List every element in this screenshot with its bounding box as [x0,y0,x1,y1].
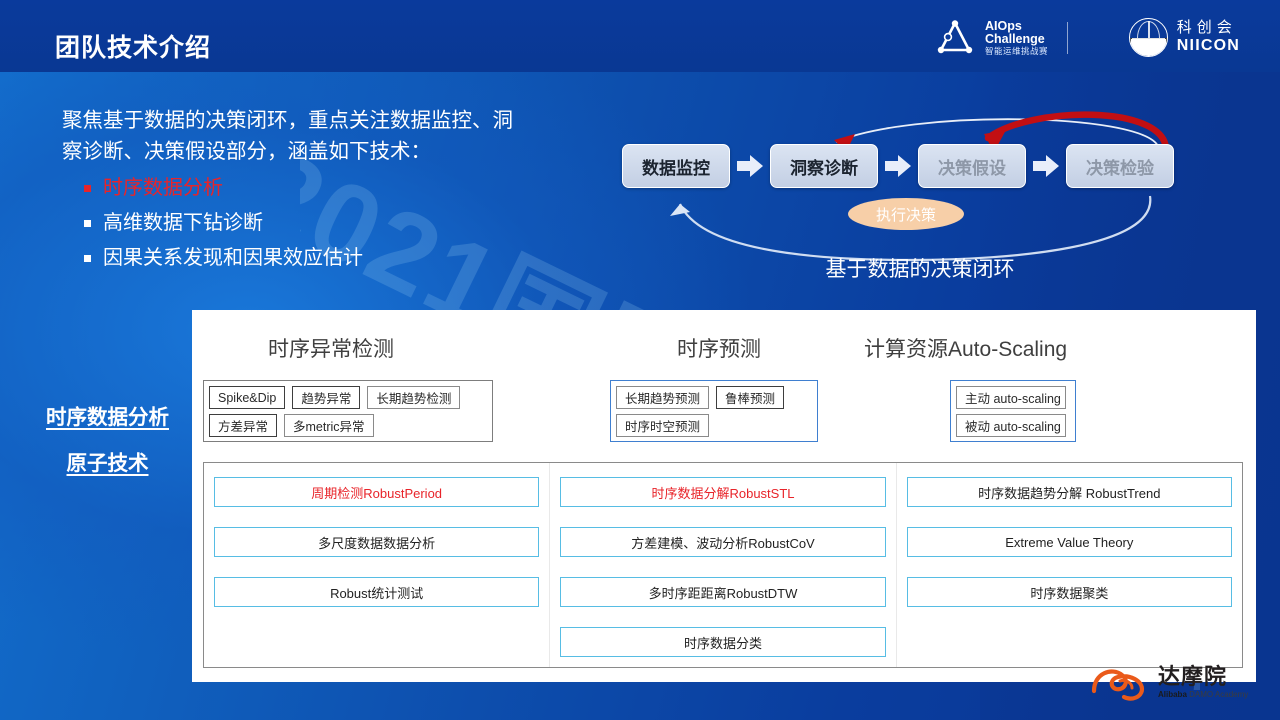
tag-item[interactable]: 方差异常 [209,414,277,437]
right-arrow-icon [1033,154,1059,178]
atomic-box[interactable]: Extreme Value Theory [907,527,1232,557]
niicon-logo-en: NIICON [1177,38,1240,55]
atomic-box[interactable]: 周期检测RobustPeriod [214,477,539,507]
list-item: 高维数据下钻诊断 [62,208,532,238]
tag-item[interactable]: 被动 auto-scaling [956,414,1066,437]
atomic-column-anomaly: 周期检测RobustPeriod 多尺度数据数据分析 Robust统计测试 [204,463,549,667]
list-item-label: 时序数据分析 [103,173,223,203]
atomic-column-forecast: 时序数据分解RobustSTL 方差建模、波动分析RobustCoV 多时序距距… [549,463,896,667]
atomic-box[interactable]: 时序数据趋势分解 RobustTrend [907,477,1232,507]
side-label-secondary: 原子技术 [20,446,195,476]
list-item-label: 高维数据下钻诊断 [103,208,263,238]
side-label-primary: 时序数据分析 [20,400,195,430]
tag-item[interactable]: 多metric异常 [284,414,374,437]
tag-item[interactable]: 长期趋势预测 [616,386,709,409]
intro-paragraph: 聚焦基于数据的决策闭环，重点关注数据监控、洞察诊断、决策假设部分，涵盖如下技术： [62,105,532,167]
tag-group-anomaly-detection: Spike&Dip 趋势异常 长期趋势检测 方差异常 多metric异常 [203,380,493,442]
damo-logo-cn: 达摩院 [1158,666,1248,688]
aiops-logo-line2: Challenge [985,33,1048,46]
tag-item[interactable]: 鲁棒预测 [716,386,784,409]
logo-divider [1067,22,1068,54]
atomic-column-scaling: 时序数据趋势分解 RobustTrend Extreme Value Theor… [897,463,1242,667]
tag-item[interactable]: 趋势异常 [292,386,360,409]
execute-decision-pill: 执行决策 [848,198,964,230]
globe-label: NIICON [1130,38,1167,57]
technology-panel: 时序异常检测 时序预测 计算资源Auto-Scaling Spike&Dip 趋… [192,310,1256,682]
side-label-group: 时序数据分析 原子技术 [20,400,195,476]
tag-row: Spike&Dip 趋势异常 长期趋势检测 [209,386,487,409]
atomic-box[interactable]: 方差建模、波动分析RobustCoV [560,527,885,557]
flow-step-row: 数据监控 洞察诊断 决策假设 决策检验 [622,144,1174,188]
page-title: 团队技术介绍 [55,28,211,64]
tag-row: 长期趋势预测 鲁棒预测 [616,386,812,409]
atomic-box[interactable]: 时序数据聚类 [907,577,1232,607]
damo-logo-en-rest: DAMO Academy [1187,690,1248,699]
damo-academy-logo: 达摩院 Alibaba DAMO Academy [1090,658,1262,706]
list-item: 因果关系发现和因果效应估计 [62,243,532,273]
aiops-triangle-icon [935,20,977,56]
flow-step-data-monitoring[interactable]: 数据监控 [622,144,730,188]
tag-group-auto-scaling: 主动 auto-scaling 被动 auto-scaling [950,380,1076,442]
flow-caption: 基于数据的决策闭环 [610,253,1230,283]
bullet-square-icon [84,220,91,227]
damo-logo-en-bold: Alibaba [1158,690,1187,699]
tag-row: 时序时空预测 [616,414,812,437]
atomic-box[interactable]: 多尺度数据数据分析 [214,527,539,557]
tag-item[interactable]: 时序时空预测 [616,414,709,437]
intro-bullet-list: 时序数据分析 高维数据下钻诊断 因果关系发现和因果效应估计 [62,173,532,273]
decision-loop-diagram: 数据监控 洞察诊断 决策假设 决策检验 执行决策 基于数据的决策闭环 [610,108,1230,288]
tag-item[interactable]: Spike&Dip [209,386,285,409]
atomic-box[interactable]: 时序数据分解RobustSTL [560,477,885,507]
aiops-logo-line3: 智能运维挑战赛 [985,47,1048,56]
bullet-square-icon [84,255,91,262]
list-item-label: 因果关系发现和因果效应估计 [103,243,363,273]
right-arrow-icon [737,154,763,178]
atomic-box[interactable]: 多时序距距离RobustDTW [560,577,885,607]
intro-block: 聚焦基于数据的决策闭环，重点关注数据监控、洞察诊断、决策假设部分，涵盖如下技术：… [62,105,532,273]
flow-step-decision-hypothesis[interactable]: 决策假设 [918,144,1026,188]
flow-step-decision-validation[interactable]: 决策检验 [1066,144,1174,188]
column-header-auto-scaling: 计算资源Auto-Scaling [864,333,1067,363]
aiops-challenge-logo: AIOps Challenge 智能运维挑战赛 [935,20,1048,56]
bullet-square-icon [84,185,91,192]
atomic-box[interactable]: 时序数据分类 [560,627,885,657]
niicon-logo-cn: 科创会 [1177,20,1240,36]
tag-item[interactable]: 长期趋势检测 [367,386,460,409]
tag-item[interactable]: 主动 auto-scaling [956,386,1066,409]
damo-swirl-icon [1090,661,1154,703]
tag-group-forecasting: 长期趋势预测 鲁棒预测 时序时空预测 [610,380,818,442]
globe-icon: NIICON [1129,18,1168,57]
column-header-anomaly-detection: 时序异常检测 [268,333,394,363]
right-arrow-icon [885,154,911,178]
tag-row: 方差异常 多metric异常 [209,414,487,437]
atomic-box[interactable]: Robust统计测试 [214,577,539,607]
niicon-logo: NIICON 科创会 NIICON [1129,18,1240,57]
tag-row: 被动 auto-scaling [956,414,1070,437]
tag-row: 主动 auto-scaling [956,386,1070,409]
slide-header: 团队技术介绍 AIOps Challenge 智能运维挑战赛 NIICON 科创… [0,0,1280,72]
atomic-technology-grid: 周期检测RobustPeriod 多尺度数据数据分析 Robust统计测试 时序… [203,462,1243,668]
flow-step-insight-diagnosis[interactable]: 洞察诊断 [770,144,878,188]
column-header-forecasting: 时序预测 [677,333,761,363]
list-item: 时序数据分析 [62,173,532,203]
damo-logo-en: Alibaba DAMO Academy [1158,691,1248,699]
